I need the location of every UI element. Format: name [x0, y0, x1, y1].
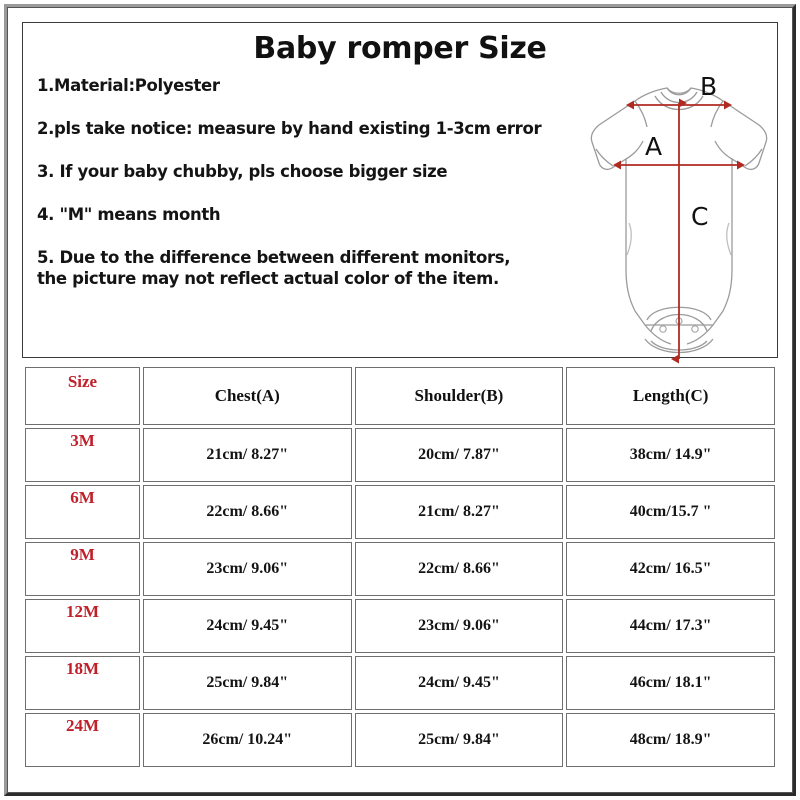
romper-diagram: B A C — [563, 73, 795, 373]
note-item-3: 3. If your baby chubby, pls choose bigge… — [23, 161, 543, 182]
size-table: Size Chest(A) Shoulder(B) Length(C) 3M 2… — [22, 364, 778, 770]
header-label-length: Length(C) — [633, 386, 709, 405]
length-value: 42cm/ 16.5" — [630, 560, 712, 577]
size-chart-page: Baby romper Size 1.Material:Polyester 2.… — [0, 0, 800, 800]
table-row: 9M 23cm/ 9.06" 22cm/ 8.66" 42cm/ 16.5" — [25, 542, 775, 596]
header-label-shoulder: Shoulder(B) — [415, 386, 504, 405]
table-row: 24M 26cm/ 10.24" 25cm/ 9.84" 48cm/ 18.9" — [25, 713, 775, 767]
row-shoulder-cell: 24cm/ 9.45" — [355, 656, 564, 710]
shoulder-value: 23cm/ 9.06" — [418, 617, 500, 634]
table-row: 12M 24cm/ 9.45" 23cm/ 9.06" 44cm/ 17.3" — [25, 599, 775, 653]
row-shoulder-cell: 20cm/ 7.87" — [355, 428, 564, 482]
label-b: B — [700, 73, 717, 101]
size-table-body: Size Chest(A) Shoulder(B) Length(C) 3M 2… — [25, 367, 775, 767]
row-length-cell: 46cm/ 18.1" — [566, 656, 775, 710]
chest-value: 22cm/ 8.66" — [206, 503, 288, 520]
table-header-row: Size Chest(A) Shoulder(B) Length(C) — [25, 367, 775, 425]
header-label-size: Size — [26, 372, 139, 392]
row-length-cell: 40cm/15.7 " — [566, 485, 775, 539]
size-value: 18M — [26, 659, 139, 679]
note-item-1: 1.Material:Polyester — [23, 75, 543, 96]
table-row: 18M 25cm/ 9.84" 24cm/ 9.45" 46cm/ 18.1" — [25, 656, 775, 710]
size-value: 3M — [26, 431, 139, 451]
row-chest-cell: 22cm/ 8.66" — [143, 485, 352, 539]
notes-list: 1.Material:Polyester 2.pls take notice: … — [23, 75, 543, 289]
info-panel: Baby romper Size 1.Material:Polyester 2.… — [22, 22, 778, 358]
label-c: C — [691, 202, 708, 231]
row-chest-cell: 26cm/ 10.24" — [143, 713, 352, 767]
header-label-chest: Chest(A) — [215, 386, 280, 405]
shoulder-value: 21cm/ 8.27" — [418, 503, 500, 520]
size-value: 9M — [26, 545, 139, 565]
length-value: 44cm/ 17.3" — [630, 617, 712, 634]
size-value: 6M — [26, 488, 139, 508]
note-item-5: 5. Due to the difference between differe… — [23, 247, 537, 289]
measure-arrows — [621, 103, 737, 359]
row-size-cell: 3M — [25, 428, 140, 482]
header-cell-shoulder: Shoulder(B) — [355, 367, 564, 425]
row-chest-cell: 21cm/ 8.27" — [143, 428, 352, 482]
page-title: Baby romper Size — [23, 31, 777, 66]
chest-value: 21cm/ 8.27" — [206, 446, 288, 463]
length-value: 38cm/ 14.9" — [630, 446, 712, 463]
row-shoulder-cell: 25cm/ 9.84" — [355, 713, 564, 767]
row-size-cell: 6M — [25, 485, 140, 539]
row-length-cell: 38cm/ 14.9" — [566, 428, 775, 482]
length-value: 48cm/ 18.9" — [630, 731, 712, 748]
row-shoulder-cell: 21cm/ 8.27" — [355, 485, 564, 539]
shoulder-value: 22cm/ 8.66" — [418, 560, 500, 577]
row-size-cell: 24M — [25, 713, 140, 767]
shoulder-value: 25cm/ 9.84" — [418, 731, 500, 748]
row-size-cell: 9M — [25, 542, 140, 596]
label-a: A — [645, 132, 662, 161]
length-value: 40cm/15.7 " — [630, 503, 712, 520]
row-chest-cell: 23cm/ 9.06" — [143, 542, 352, 596]
chest-value: 25cm/ 9.84" — [206, 674, 288, 691]
chest-value: 23cm/ 9.06" — [206, 560, 288, 577]
row-size-cell: 18M — [25, 656, 140, 710]
size-value: 24M — [26, 716, 139, 736]
size-value: 12M — [26, 602, 139, 622]
row-length-cell: 48cm/ 18.9" — [566, 713, 775, 767]
row-chest-cell: 24cm/ 9.45" — [143, 599, 352, 653]
header-cell-length: Length(C) — [566, 367, 775, 425]
row-shoulder-cell: 22cm/ 8.66" — [355, 542, 564, 596]
row-chest-cell: 25cm/ 9.84" — [143, 656, 352, 710]
row-shoulder-cell: 23cm/ 9.06" — [355, 599, 564, 653]
chest-value: 26cm/ 10.24" — [202, 731, 292, 748]
shoulder-value: 24cm/ 9.45" — [418, 674, 500, 691]
table-row: 6M 22cm/ 8.66" 21cm/ 8.27" 40cm/15.7 " — [25, 485, 775, 539]
row-length-cell: 44cm/ 17.3" — [566, 599, 775, 653]
header-cell-chest: Chest(A) — [143, 367, 352, 425]
header-cell-size: Size — [25, 367, 140, 425]
row-length-cell: 42cm/ 16.5" — [566, 542, 775, 596]
length-value: 46cm/ 18.1" — [630, 674, 712, 691]
row-size-cell: 12M — [25, 599, 140, 653]
table-row: 3M 21cm/ 8.27" 20cm/ 7.87" 38cm/ 14.9" — [25, 428, 775, 482]
shoulder-value: 20cm/ 7.87" — [418, 446, 500, 463]
note-item-2: 2.pls take notice: measure by hand exist… — [23, 118, 543, 139]
chest-value: 24cm/ 9.45" — [206, 617, 288, 634]
note-item-4: 4. "M" means month — [23, 204, 543, 225]
